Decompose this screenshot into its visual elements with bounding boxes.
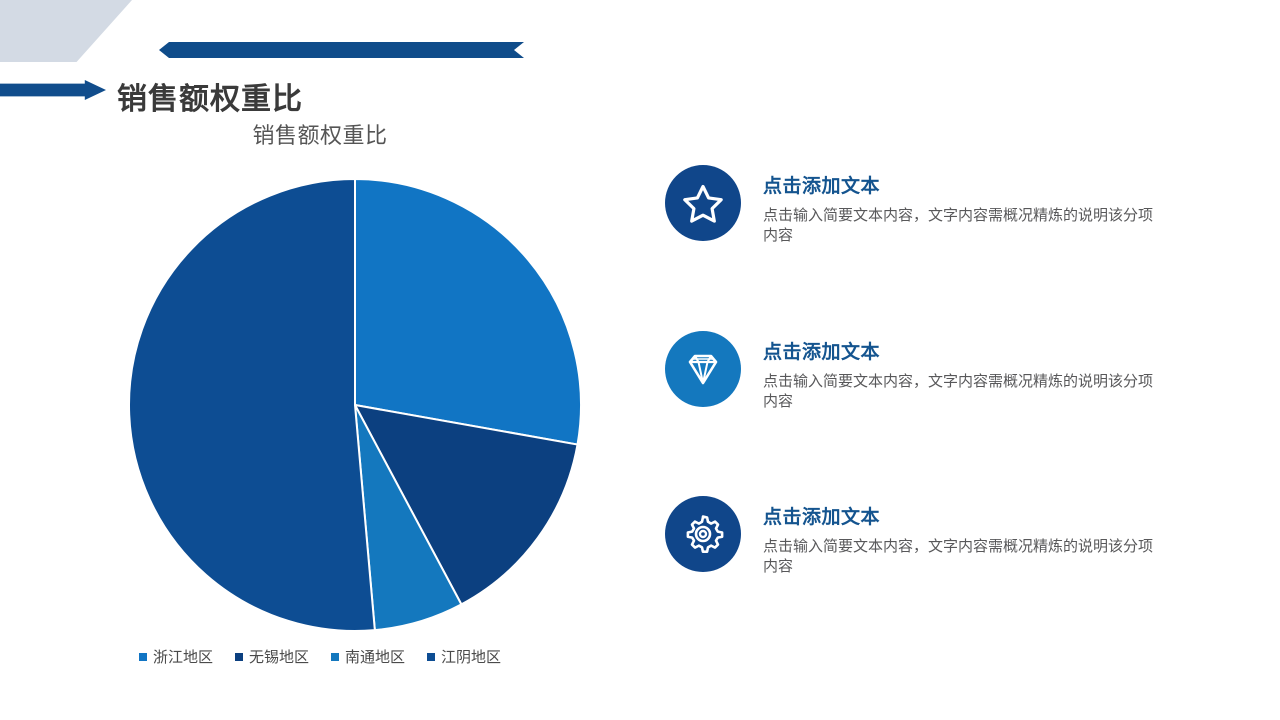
pie-chart <box>128 178 582 632</box>
right-arrow-decoration <box>0 80 106 100</box>
feature-text: 点击添加文本点击输入简要文本内容，文字内容需概况精炼的说明该分项内容 <box>763 165 1155 247</box>
feature-title[interactable]: 点击添加文本 <box>763 171 1155 198</box>
pie-chart-svg <box>128 178 582 632</box>
feature-title[interactable]: 点击添加文本 <box>763 502 1155 529</box>
gear-icon <box>665 496 741 572</box>
legend-label: 江阴地区 <box>441 646 501 667</box>
legend-swatch-icon <box>139 653 147 661</box>
feature-body[interactable]: 点击输入简要文本内容，文字内容需概况精炼的说明该分项内容 <box>763 206 1155 247</box>
legend-item: 无锡地区 <box>235 646 309 667</box>
feature-title[interactable]: 点击添加文本 <box>763 337 1155 364</box>
legend-swatch-icon <box>331 653 339 661</box>
legend-label: 南通地区 <box>345 646 405 667</box>
feature-body[interactable]: 点击输入简要文本内容，文字内容需概况精炼的说明该分项内容 <box>763 537 1155 578</box>
feature-list: 点击添加文本点击输入简要文本内容，文字内容需概况精炼的说明该分项内容点击添加文本… <box>665 165 1265 578</box>
legend-item: 江阴地区 <box>427 646 501 667</box>
feature-item[interactable]: 点击添加文本点击输入简要文本内容，文字内容需概况精炼的说明该分项内容 <box>665 496 1265 578</box>
feature-item[interactable]: 点击添加文本点击输入简要文本内容，文字内容需概况精炼的说明该分项内容 <box>665 165 1265 247</box>
pie-slice <box>355 179 581 445</box>
legend-swatch-icon <box>235 653 243 661</box>
corner-decoration <box>0 0 132 62</box>
feature-body[interactable]: 点击输入简要文本内容，文字内容需概况精炼的说明该分项内容 <box>763 372 1155 413</box>
chart-title: 销售额权重比 <box>0 118 640 150</box>
star-icon <box>665 165 741 241</box>
legend-label: 浙江地区 <box>153 646 213 667</box>
feature-text: 点击添加文本点击输入简要文本内容，文字内容需概况精炼的说明该分项内容 <box>763 496 1155 578</box>
feature-text: 点击添加文本点击输入简要文本内容，文字内容需概况精炼的说明该分项内容 <box>763 331 1155 413</box>
legend-label: 无锡地区 <box>249 646 309 667</box>
chart-legend: 浙江地区无锡地区南通地区江阴地区 <box>0 646 640 667</box>
legend-item: 南通地区 <box>331 646 405 667</box>
page-title: 销售额权重比 <box>117 74 303 118</box>
legend-swatch-icon <box>427 653 435 661</box>
pie-chart-panel: 销售额权重比 浙江地区无锡地区南通地区江阴地区 <box>0 118 640 678</box>
ribbon-bar-decoration <box>159 42 524 58</box>
legend-item: 浙江地区 <box>139 646 213 667</box>
pie-slice <box>129 179 375 631</box>
diamond-icon <box>665 331 741 407</box>
feature-item[interactable]: 点击添加文本点击输入简要文本内容，文字内容需概况精炼的说明该分项内容 <box>665 331 1265 413</box>
